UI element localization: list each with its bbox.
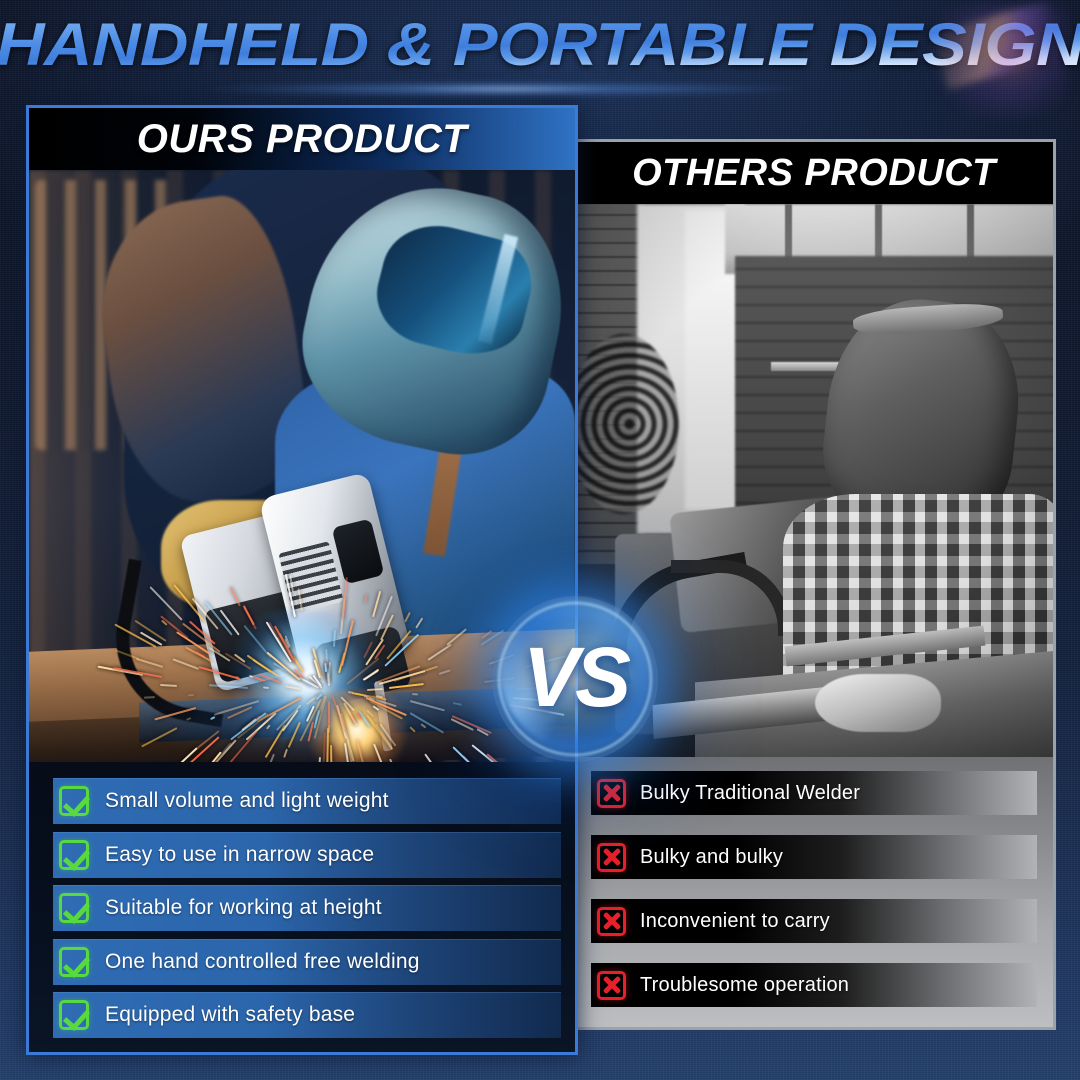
cross-icon: [597, 907, 626, 936]
list-item: Bulky and bulky: [591, 835, 1037, 879]
ours-feature-list: Small volume and light weight Easy to us…: [29, 762, 575, 1052]
list-item-label: Easy to use in narrow space: [105, 843, 374, 867]
list-item: Troublesome operation: [591, 963, 1037, 1007]
list-item-label: Bulky and bulky: [640, 846, 783, 869]
list-item: Inconvenient to carry: [591, 899, 1037, 943]
check-icon: [59, 786, 89, 816]
list-item: Small volume and light weight: [53, 778, 561, 824]
list-item-label: Troublesome operation: [640, 974, 849, 997]
cross-icon: [597, 971, 626, 1000]
weld-pool-glow: [297, 690, 417, 770]
list-item: One hand controlled free welding: [53, 939, 561, 985]
ours-product-header: OURS PRODUCT: [29, 108, 575, 170]
ours-product-panel: OURS PRODUCT Small: [26, 105, 578, 1055]
list-item-label: Small volume and light weight: [105, 789, 389, 813]
others-feature-list: Bulky Traditional Welder Bulky and bulky…: [575, 757, 1053, 1027]
others-product-panel: OTHERS PRODUCT Bulky Traditional Welder: [572, 139, 1056, 1030]
cross-icon: [597, 779, 626, 808]
list-item-label: Equipped with safety base: [105, 1003, 355, 1027]
list-item: Suitable for working at height: [53, 885, 561, 931]
list-item: Easy to use in narrow space: [53, 832, 561, 878]
list-item-label: Suitable for working at height: [105, 896, 382, 920]
check-icon: [59, 840, 89, 870]
check-icon: [59, 947, 89, 977]
list-item-label: Bulky Traditional Welder: [640, 782, 860, 805]
page-header: HANDHELD & PORTABLE DESIGN: [0, 10, 1080, 94]
check-icon: [59, 1000, 89, 1030]
vs-label: VS: [523, 635, 627, 719]
list-item: Bulky Traditional Welder: [591, 771, 1037, 815]
list-item-label: One hand controlled free welding: [105, 950, 420, 974]
check-icon: [59, 893, 89, 923]
others-product-header: OTHERS PRODUCT: [575, 142, 1053, 204]
list-item: Equipped with safety base: [53, 992, 561, 1038]
ours-product-title: OURS PRODUCT: [137, 117, 467, 162]
others-product-title: OTHERS PRODUCT: [632, 152, 996, 195]
vs-badge: VS: [492, 596, 658, 762]
title-glow-decoration: [110, 76, 970, 102]
cross-icon: [597, 843, 626, 872]
list-item-label: Inconvenient to carry: [640, 910, 830, 933]
